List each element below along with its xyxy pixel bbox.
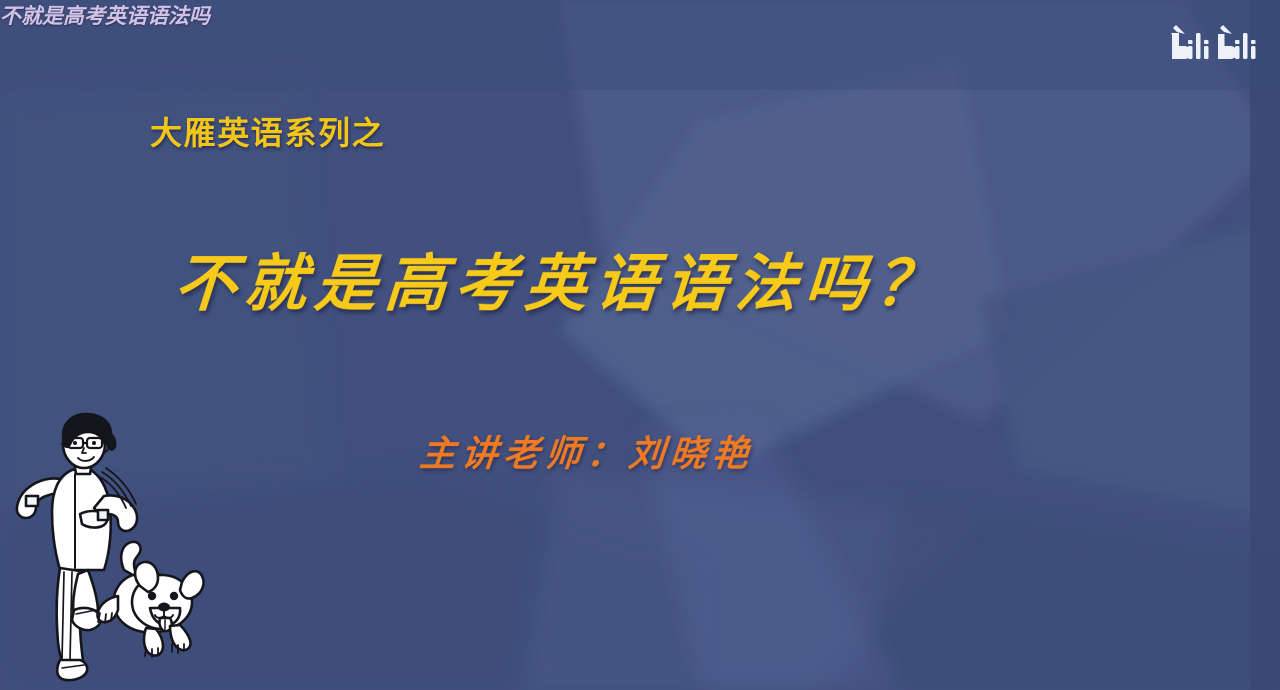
page-title: 不就是高考英语语法吗？ bbox=[172, 233, 949, 323]
bilibili-logo-icon bbox=[1168, 24, 1268, 70]
running-dog-icon bbox=[97, 542, 203, 657]
presenter-label: 主讲老师：刘晓艳 bbox=[418, 425, 757, 477]
jogging-person-icon bbox=[17, 414, 137, 680]
video-title-slide: 不就是高考英语语法吗 爱学习的哈基米哦 bbox=[0, 0, 1280, 690]
series-label: 大雁英语系列之 bbox=[150, 108, 385, 154]
runner-with-dog-illustration bbox=[12, 410, 212, 682]
watermark-title-text: 不就是高考英语语法吗 bbox=[0, 0, 1280, 30]
